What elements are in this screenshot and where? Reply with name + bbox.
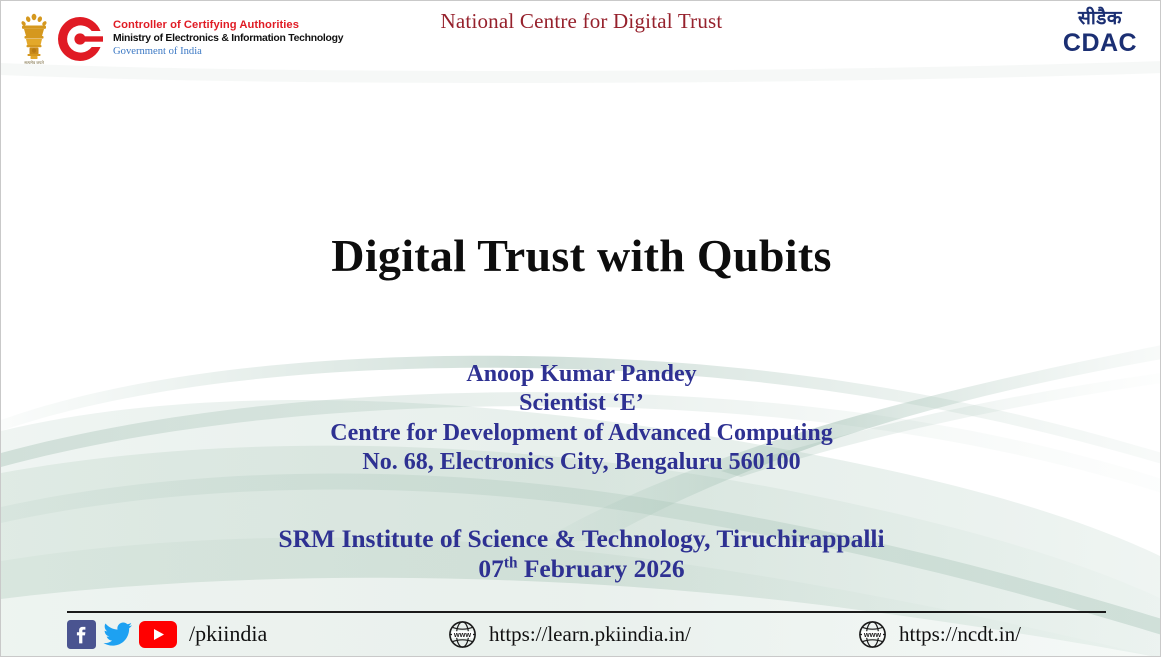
link-ncdt[interactable]: www https://ncdt.in/ <box>858 617 1021 651</box>
cdac-latin-text: CDAC <box>1054 31 1146 56</box>
venue-date: 07th February 2026 <box>1 554 1161 584</box>
slide-header: सत्यमेव जयते Controller of Certifying Au… <box>1 1 1161 79</box>
globe-www-icon: www <box>448 620 477 649</box>
cdac-hindi-text: सीडैक <box>1054 9 1146 28</box>
venue-institute: SRM Institute of Science & Technology, T… <box>1 524 1161 554</box>
svg-text:सत्यमेव जयते: सत्यमेव जयते <box>24 60 44 65</box>
youtube-icon[interactable] <box>139 621 177 648</box>
svg-text:www: www <box>863 629 881 638</box>
author-organization: Centre for Development of Advanced Compu… <box>1 419 1161 448</box>
venue-date-rest: February 2026 <box>517 554 684 583</box>
spellcheck-squiggle <box>200 642 266 646</box>
slide-footer: /pkiindia www https://learn.pkiindia.in/ <box>1 613 1161 657</box>
venue-date-ordinal: th <box>504 555 518 572</box>
header-center-title: National Centre for Digital Trust <box>1 9 1161 34</box>
slide-body: Digital Trust with Qubits Anoop Kumar Pa… <box>1 1 1161 657</box>
cdac-logo: सीडैक CDAC <box>1054 9 1146 69</box>
link-ncdt-url[interactable]: https://ncdt.in/ <box>899 622 1021 647</box>
link-learn-pkiindia[interactable]: www https://learn.pkiindia.in/ <box>448 617 691 651</box>
cca-line-ministry: Ministry of Electronics & Information Te… <box>113 33 343 46</box>
page-title: Digital Trust with Qubits <box>1 229 1161 282</box>
globe-www-icon: www <box>858 620 887 649</box>
venue-date-day: 07 <box>478 554 504 583</box>
author-block: Anoop Kumar Pandey Scientist ‘E’ Centre … <box>1 360 1161 477</box>
author-address: No. 68, Electronics City, Bengaluru 5601… <box>1 448 1161 477</box>
author-name: Anoop Kumar Pandey <box>1 360 1161 389</box>
author-designation: Scientist ‘E’ <box>1 389 1161 418</box>
presentation-slide: सत्यमेव जयते Controller of Certifying Au… <box>0 0 1161 657</box>
background-wave-decoration <box>1 1 1161 657</box>
social-handle-text: /pkiindia <box>189 621 267 647</box>
cca-line-government: Government of India <box>113 46 343 59</box>
twitter-icon[interactable] <box>102 620 133 649</box>
facebook-icon[interactable] <box>67 620 96 649</box>
social-handles-group: /pkiindia <box>67 617 267 651</box>
link-learn-url[interactable]: https://learn.pkiindia.in/ <box>489 622 691 647</box>
svg-text:www: www <box>453 629 471 638</box>
venue-block: SRM Institute of Science & Technology, T… <box>1 524 1161 584</box>
